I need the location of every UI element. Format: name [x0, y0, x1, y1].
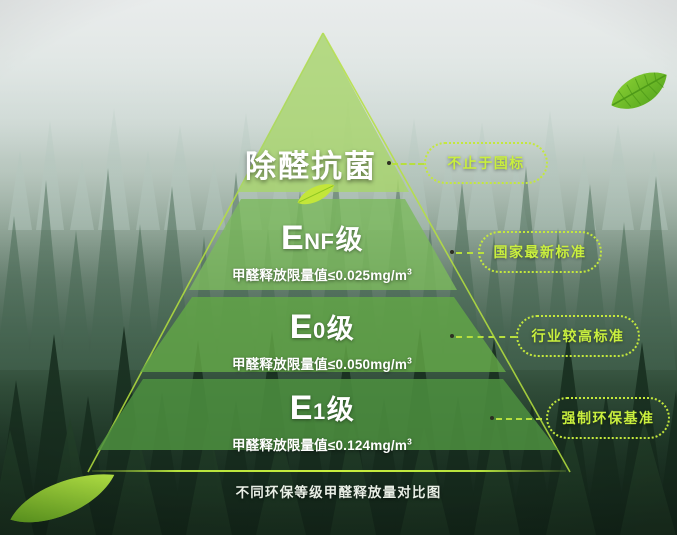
- limit-sup-enf: 3: [407, 267, 412, 277]
- connector-dot-top: [387, 161, 391, 165]
- grade-label-e1: E1级: [162, 391, 482, 425]
- grade-cn-e0: 级: [327, 314, 355, 344]
- grade-cn-e1: 级: [327, 395, 355, 425]
- grade-main-e1: E: [290, 389, 313, 427]
- limit-text-e0: 甲醛释放限量值≤0.050mg/m: [232, 357, 407, 372]
- limit-sup-e0: 3: [407, 356, 412, 366]
- badge-e1[interactable]: 强制环保基准: [546, 397, 670, 439]
- grade-sub-e1: 1: [313, 399, 326, 424]
- pyramid-tier-e1-text: E1级 甲醛释放限量值≤0.124mg/m3: [162, 391, 482, 454]
- pyramid-tier-e0-text: E0级 甲醛释放限量值≤0.050mg/m3: [162, 310, 482, 373]
- badge-e0[interactable]: 行业较高标准: [516, 315, 640, 357]
- grade-sub-enf: NF: [304, 229, 334, 254]
- pyramid-tier-enf-text: ENF级 甲醛释放限量值≤0.025mg/m3: [162, 221, 482, 284]
- grade-cn-enf: 级: [336, 225, 364, 255]
- connector-line-top: [392, 163, 424, 165]
- badge-enf[interactable]: 国家最新标准: [478, 231, 602, 273]
- limit-value-e1: 甲醛释放限量值≤0.124mg/m3: [162, 434, 482, 454]
- connector-dot-e0: [450, 334, 454, 338]
- grade-sub-e0: 0: [313, 318, 326, 343]
- grade-label-e0: E0级: [162, 310, 482, 344]
- leaf-icon-bottom-left: [8, 474, 120, 528]
- badge-top[interactable]: 不止于国标: [424, 142, 548, 184]
- limit-value-e0: 甲醛释放限量值≤0.050mg/m3: [162, 353, 482, 373]
- connector-line-e0: [456, 336, 516, 338]
- limit-text-e1: 甲醛释放限量值≤0.124mg/m: [232, 438, 407, 453]
- grade-main-e0: E: [290, 308, 313, 346]
- grade-label-enf: ENF级: [162, 221, 482, 255]
- connector-line-e1: [496, 418, 542, 420]
- baseline-rule: [92, 470, 566, 472]
- connector-dot-e1: [490, 416, 494, 420]
- infographic-banner: 除醛抗菌 ENF级 甲醛释放限量值≤0.025mg/m3 E0级 甲醛释放限量值…: [0, 0, 677, 535]
- connector-dot-enf: [450, 250, 454, 254]
- leaf-icon-top-right: [605, 62, 675, 124]
- leaf-icon-mid: [294, 181, 338, 207]
- limit-value-enf: 甲醛释放限量值≤0.025mg/m3: [162, 264, 482, 284]
- grade-main-enf: E: [281, 219, 304, 257]
- limit-sup-e1: 3: [407, 437, 412, 447]
- limit-text-enf: 甲醛释放限量值≤0.025mg/m: [232, 268, 407, 283]
